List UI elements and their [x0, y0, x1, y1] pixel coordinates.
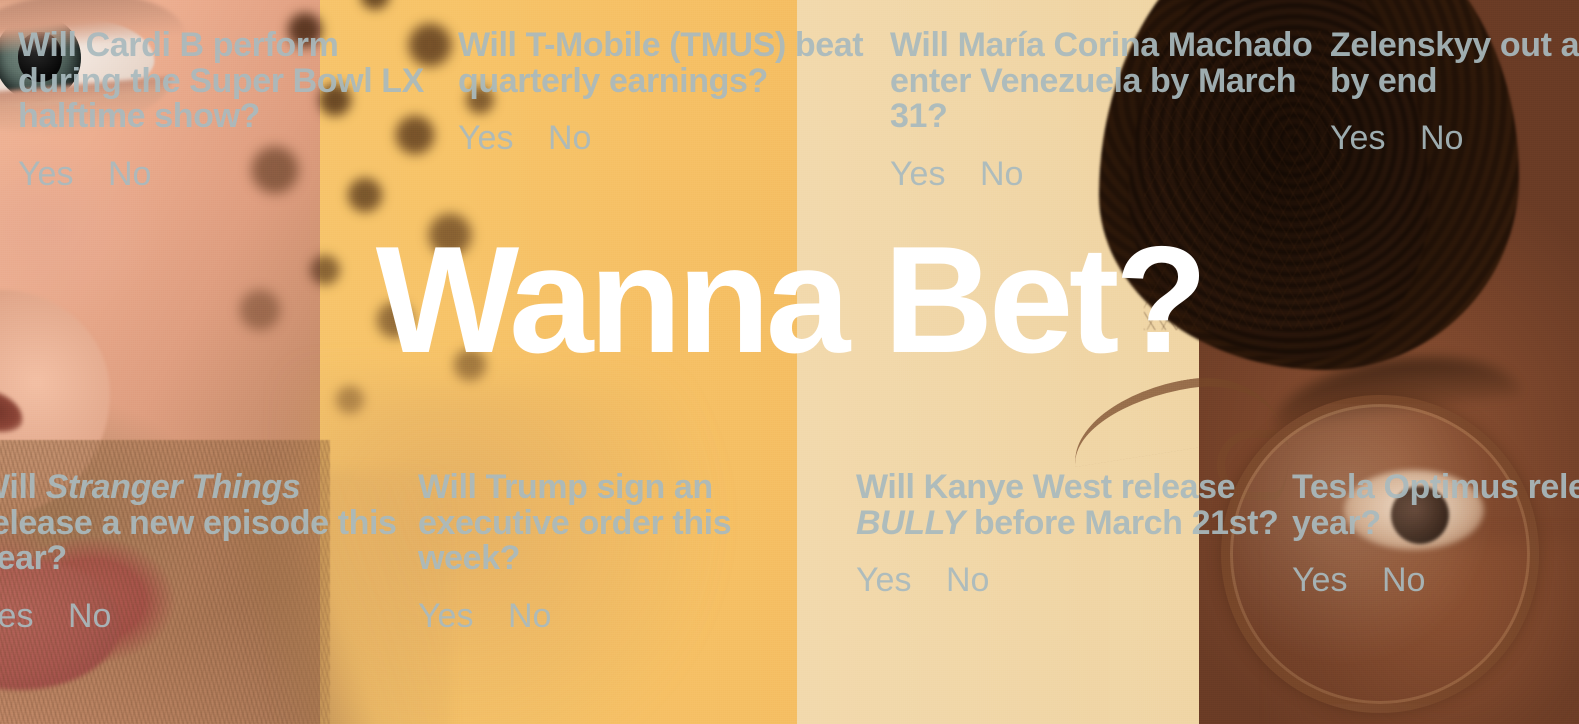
choice-yes[interactable]: Yes: [458, 121, 548, 155]
choice-yes[interactable]: Yes: [418, 599, 508, 633]
market-choices: Yes No: [458, 121, 888, 155]
market-choices: Yes No: [890, 157, 1320, 191]
market-card-trump-executive-order[interactable]: Will Trump sign an executive order this …: [418, 470, 838, 633]
market-card-kanye-bully[interactable]: Will Kanye West release BULLY before Mar…: [856, 470, 1286, 597]
market-card-stranger-things-episode[interactable]: Will Stranger Things release a new episo…: [0, 470, 398, 633]
market-card-tesla-optimus[interactable]: Tesla Optimus rele this year? Yes No: [1292, 470, 1579, 597]
market-card-cardi-b-super-bowl[interactable]: Will Cardi B perform during the Super Bo…: [18, 28, 448, 191]
question-prefix: Will: [0, 468, 46, 506]
choice-yes[interactable]: Yes: [856, 563, 946, 597]
question-title-italic: BULLY: [856, 504, 965, 542]
market-choices: Yes No: [1292, 563, 1579, 597]
market-question: Will María Corina Machado enter Venezuel…: [890, 28, 1320, 135]
choice-no[interactable]: No: [108, 157, 151, 191]
question-suffix: release a new episode this year?: [0, 504, 397, 578]
market-card-tmobile-earnings[interactable]: Will T-Mobile (TMUS) beat quarterly earn…: [458, 28, 888, 155]
hero-headline: Wanna Bet?: [0, 224, 1579, 376]
market-question: Will Trump sign an executive order this …: [418, 470, 838, 577]
question-prefix: Will Kanye West release: [856, 468, 1235, 506]
market-choices: Yes No: [0, 599, 398, 633]
market-card-zelenskyy-president[interactable]: Zelenskyy out as president by end Yes No: [1330, 28, 1579, 155]
market-choices: Yes No: [418, 599, 838, 633]
market-question: Tesla Optimus rele this year?: [1292, 470, 1579, 541]
choice-no[interactable]: No: [980, 157, 1023, 191]
choice-no[interactable]: No: [68, 599, 111, 633]
choice-no[interactable]: No: [946, 563, 989, 597]
market-question: Will Cardi B perform during the Super Bo…: [18, 28, 448, 135]
wanna-bet-hero-page: Will Cardi B perform during the Super Bo…: [0, 0, 1579, 724]
choice-yes[interactable]: Yes: [890, 157, 980, 191]
choice-no[interactable]: No: [548, 121, 591, 155]
market-choices: Yes No: [1330, 121, 1579, 155]
question-suffix: before March 21st?: [965, 504, 1279, 542]
choice-yes[interactable]: Yes: [1292, 563, 1382, 597]
question-title-italic: Stranger Things: [46, 468, 301, 506]
market-choices: Yes No: [18, 157, 448, 191]
market-question: Zelenskyy out as president by end: [1330, 28, 1579, 99]
choice-yes[interactable]: Yes: [1330, 121, 1420, 155]
market-question: Will Stranger Things release a new episo…: [0, 470, 398, 577]
choice-no[interactable]: No: [508, 599, 551, 633]
choice-yes[interactable]: Yes: [0, 599, 68, 633]
market-question: Will T-Mobile (TMUS) beat quarterly earn…: [458, 28, 888, 99]
market-card-machado-venezuela[interactable]: Will María Corina Machado enter Venezuel…: [890, 28, 1320, 191]
choice-no[interactable]: No: [1382, 563, 1425, 597]
market-question: Will Kanye West release BULLY before Mar…: [856, 470, 1286, 541]
choice-no[interactable]: No: [1420, 121, 1463, 155]
content-layer: Will Cardi B perform during the Super Bo…: [0, 0, 1579, 724]
choice-yes[interactable]: Yes: [18, 157, 108, 191]
market-choices: Yes No: [856, 563, 1286, 597]
